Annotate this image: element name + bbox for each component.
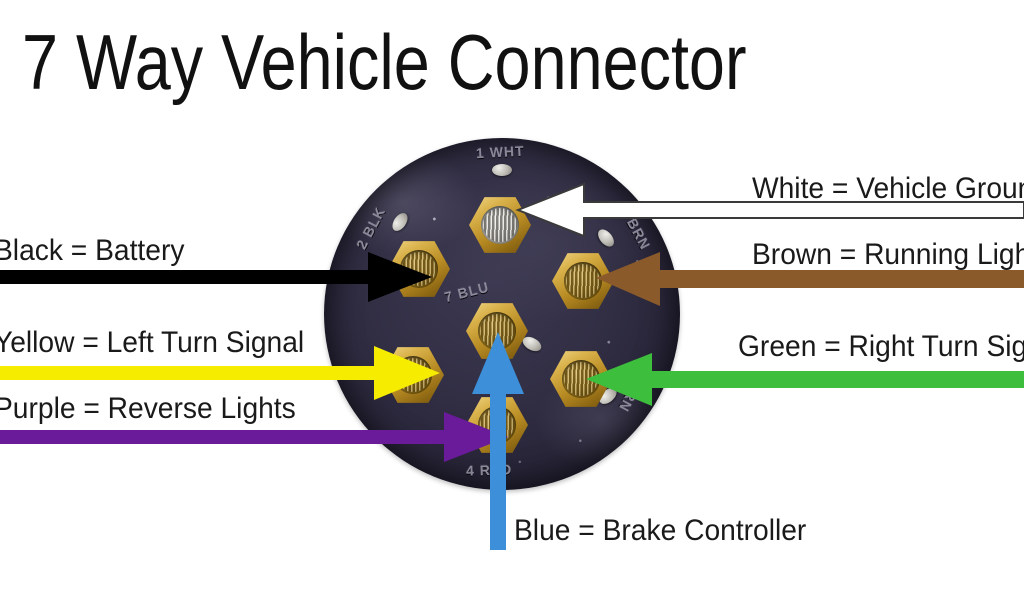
terminal-lug	[492, 164, 512, 176]
label-purple: Purple = Reverse Lights	[0, 392, 296, 426]
page-title: 7 Way Vehicle Connector	[22, 12, 860, 112]
terminal-lug	[389, 210, 410, 233]
diagram-canvas: 7 Way Vehicle Connector 1 WHT 2 BLK 6 BR…	[0, 0, 1024, 600]
label-blue: Blue = Brake Controller	[514, 514, 806, 548]
mold-label-1-wht: 1 WHT	[476, 143, 525, 162]
label-yellow: Yellow = Left Turn Signal	[0, 326, 304, 360]
screw-head	[481, 206, 519, 244]
label-brown: Brown = Running Lights	[752, 238, 1024, 272]
label-green: Green = Right Turn Signal	[738, 330, 1024, 364]
mold-label-2-blk: 2 BLK	[353, 204, 388, 252]
label-black: Black = Battery	[0, 234, 184, 268]
label-white: White = Vehicle Ground(s)	[752, 172, 1024, 206]
mold-label-7-blu: 7 BLU	[443, 279, 491, 306]
